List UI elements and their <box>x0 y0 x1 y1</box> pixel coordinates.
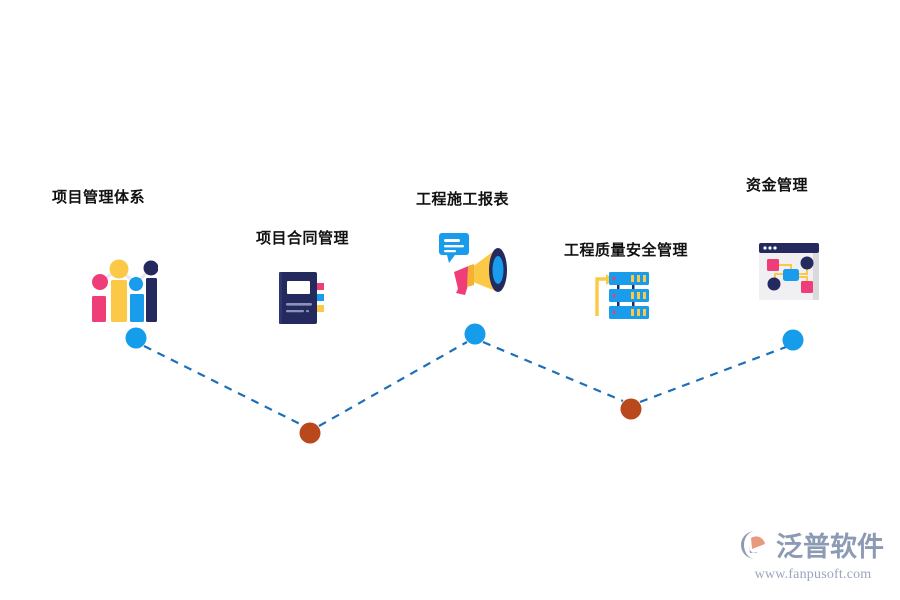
node-label-project-contract-management: 项目合同管理 <box>256 231 349 246</box>
timeline-dot-project-contract-management[interactable] <box>300 423 321 444</box>
timeline-dots <box>126 324 804 444</box>
connector-line-3 <box>483 342 623 401</box>
server-rack-icon <box>592 268 650 329</box>
timeline-dot-project-management-system[interactable] <box>126 328 147 349</box>
timeline-dot-quality-safety-management[interactable] <box>621 399 642 420</box>
connector-line-4 <box>640 347 786 402</box>
node-label-quality-safety-management: 工程质量安全管理 <box>564 243 688 258</box>
node-label-fund-management: 资金管理 <box>746 178 808 193</box>
infographic-canvas: 项目管理体系 项目合同管理 <box>0 0 900 600</box>
timeline-dot-construction-report[interactable] <box>465 324 486 345</box>
bar-chart-icon <box>88 258 158 329</box>
watermark-brand: 泛普软件 <box>776 534 884 561</box>
notebook-icon <box>277 270 331 331</box>
timeline-dot-fund-management[interactable] <box>783 330 804 351</box>
fanpu-logo-icon <box>738 529 772 566</box>
flowchart-window-icon <box>759 243 823 306</box>
node-label-construction-report: 工程施工报表 <box>416 192 509 207</box>
connector-line-1 <box>144 346 302 425</box>
watermark-url: www.fanpusoft.com <box>738 567 888 583</box>
megaphone-icon <box>438 232 510 301</box>
watermark: 泛普软件 www.fanpusoft.com <box>738 528 888 590</box>
node-label-project-management-system: 项目管理体系 <box>52 190 145 205</box>
connector-line-2 <box>319 342 467 426</box>
connector-lines <box>144 342 786 426</box>
